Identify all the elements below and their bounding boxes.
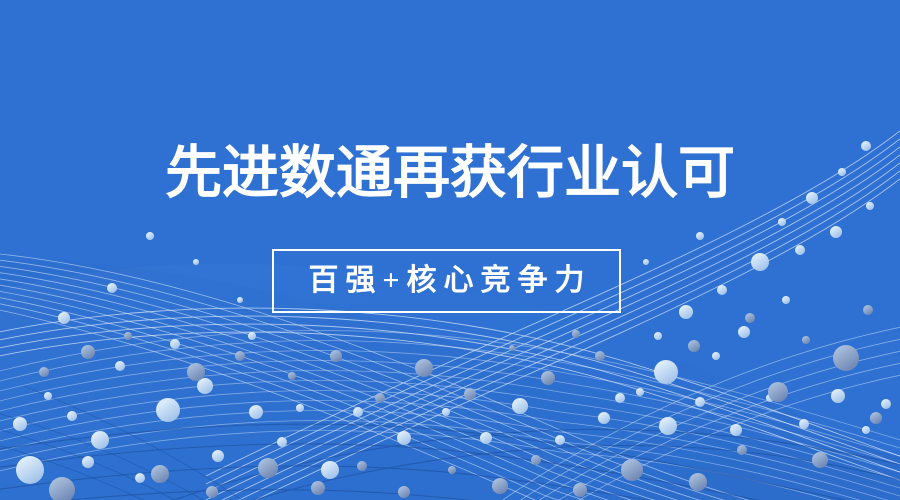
subtitle-text: 百强+核心竞争力 — [301, 264, 591, 298]
promo-banner: 先进数通再获行业认可 百强+核心竞争力 — [0, 0, 900, 500]
subtitle-badge: 百强+核心竞争力 — [272, 249, 621, 313]
page-title: 先进数通再获行业认可 — [0, 136, 900, 212]
banner-text-layer: 先进数通再获行业认可 百强+核心竞争力 — [0, 0, 900, 500]
